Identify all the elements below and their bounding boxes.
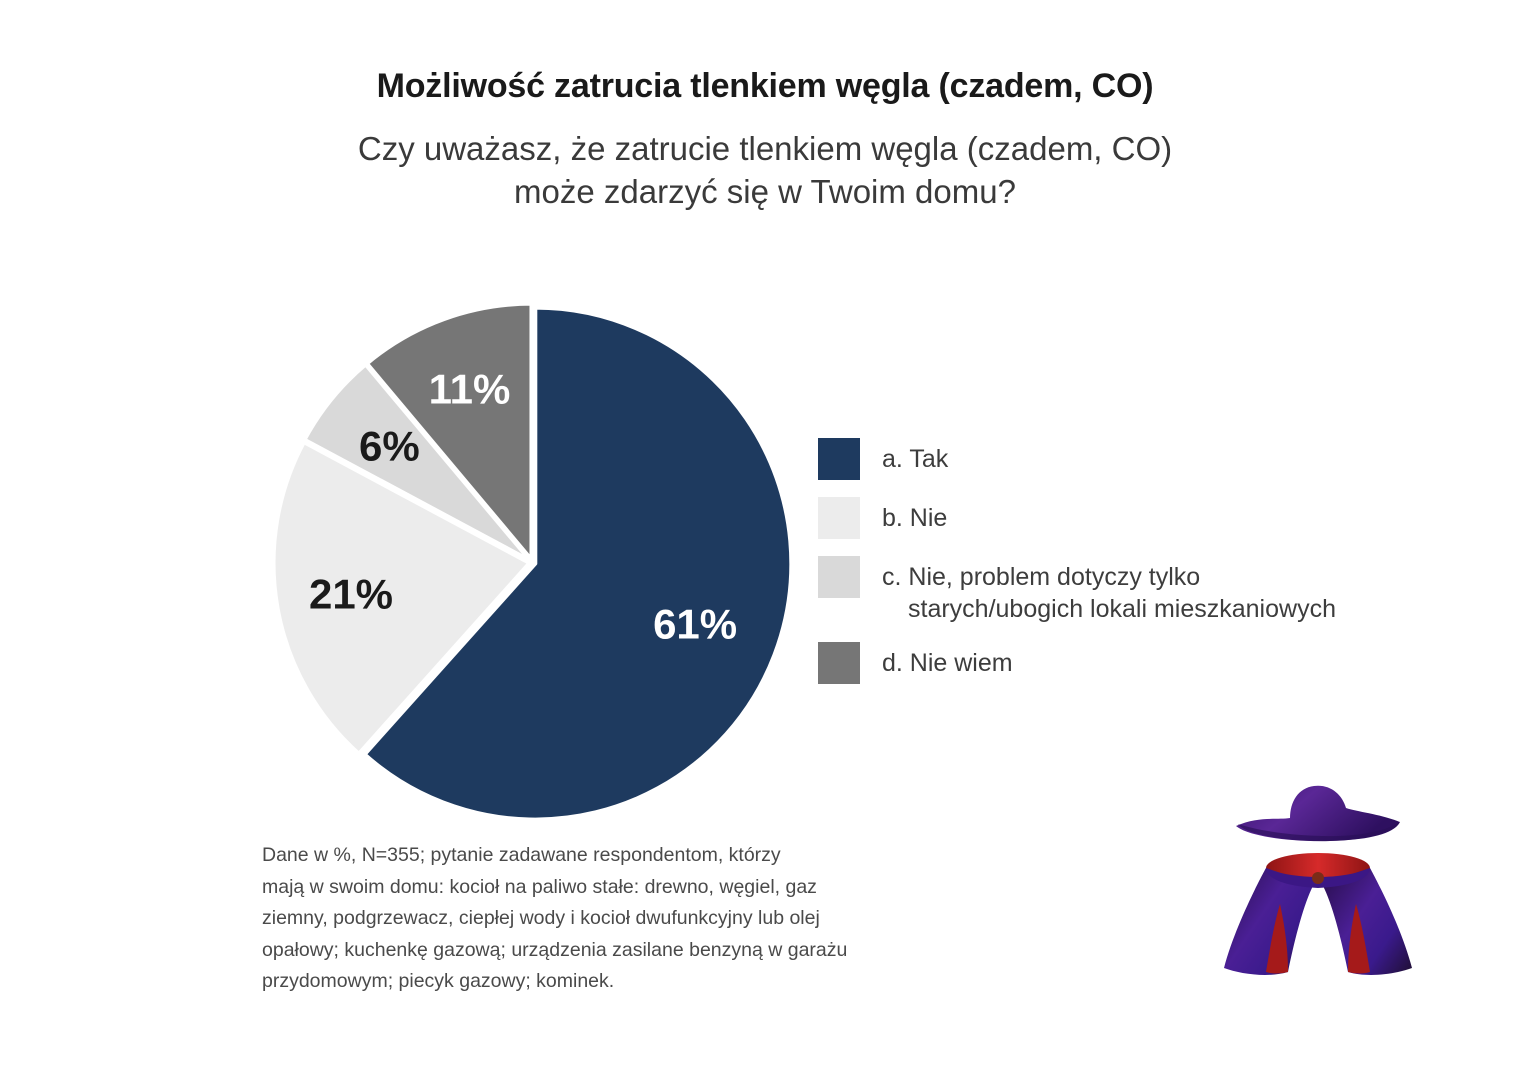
chart-subtitle: Czy uważasz, że zatrucie tlenkiem węgla … [0,107,1530,214]
chart-subtitle-line-1: Czy uważasz, że zatrucie tlenkiem węgla … [0,127,1530,171]
footnote-line-1: Dane w %, N=355; pytanie zadawane respon… [262,840,922,872]
chart-header: Możliwość zatrucia tlenkiem węgla (czade… [0,0,1530,214]
logo-svg [1218,772,1418,987]
legend-swatch-tak [818,438,860,480]
legend-item-tak[interactable]: a. Tak [818,438,1418,480]
legend-label-nie: b. Nie [882,497,947,534]
pie-chart: 61% 21% 6% 11% [258,288,803,833]
chart-footnote: Dane w %, N=355; pytanie zadawane respon… [262,840,922,998]
legend-label-nie-stare-lokale: c. Nie, problem dotyczy tylko starych/ub… [882,556,1336,625]
chart-subtitle-line-2: może zdarzyć się w Twoim domu? [0,170,1530,214]
footnote-line-2: mają w swoim domu: kocioł na paliwo stał… [262,872,922,904]
cape-clasp [1312,872,1324,884]
legend-label-nie-wiem: d. Nie wiem [882,642,1013,679]
chart-legend: a. Tak b. Nie c. Nie, problem dotyczy ty… [818,438,1418,684]
cape-icon [1224,853,1412,975]
legend-label-tak: a. Tak [882,438,948,475]
pie-label-nie-wiem: 11% [429,365,511,412]
legend-swatch-nie-wiem [818,642,860,684]
pie-chart-svg: 61% 21% 6% 11% [258,288,803,833]
footnote-line-4: opałowy; kuchenkę gazową; urządzenia zas… [262,935,922,967]
pie-label-nie-stare-lokale: 6% [359,422,420,469]
legend-item-nie-stare-lokale[interactable]: c. Nie, problem dotyczy tylko starych/ub… [818,556,1418,625]
musketeer-hat-and-cape-logo [1218,772,1418,987]
pie-label-nie: 21% [309,571,393,618]
legend-item-nie[interactable]: b. Nie [818,497,1418,539]
page-title: Możliwość zatrucia tlenkiem węgla (czade… [0,0,1530,107]
legend-item-nie-wiem[interactable]: d. Nie wiem [818,642,1418,684]
footnote-line-5: przydomowym; piecyk gazowy; kominek. [262,966,922,998]
footnote-line-3: ziemny, podgrzewacz, ciepłej wody i koci… [262,903,922,935]
legend-label-line-1: c. Nie, problem dotyczy tylko [882,563,1200,591]
legend-label-line-2: starych/ubogich lokali mieszkaniowych [882,593,1336,625]
legend-swatch-nie [818,497,860,539]
pie-label-tak: 61% [653,601,737,648]
legend-swatch-nie-stare-lokale [818,556,860,598]
hat-icon [1236,786,1400,841]
